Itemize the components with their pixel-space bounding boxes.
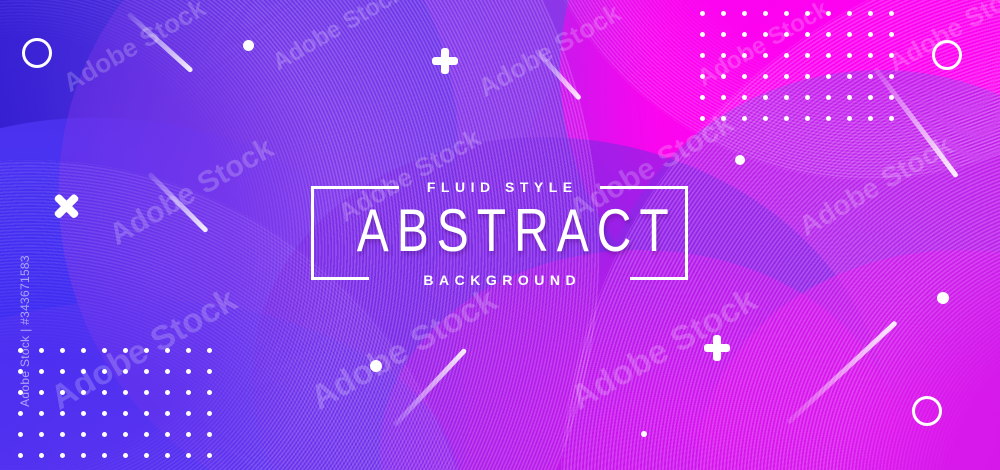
stock-watermark-tile: Adobe Stock: [693, 0, 834, 93]
stock-watermark-tile: Adobe Stock: [564, 281, 763, 419]
stock-watermark-tile: Adobe Stock: [883, 0, 1000, 79]
stock-watermark-tile: Adobe Stock: [304, 281, 503, 419]
stock-watermark-tile: Adobe Stock: [44, 281, 243, 419]
abstract-background-banner: Adobe StockAdobe StockAdobe StockAdobe S…: [0, 0, 1000, 470]
eyebrow-text: FLUID STYLE: [311, 177, 688, 197]
stock-watermark-tile: Adobe Stock: [473, 0, 626, 104]
headline-frame: FLUID STYLE ABSTRACT BACKGROUND: [311, 178, 688, 283]
frame-border-right: [685, 186, 688, 277]
subline-text: BACKGROUND: [311, 270, 688, 290]
stock-watermark-tile: Adobe Stock: [58, 0, 211, 99]
frame-border-left: [311, 186, 314, 277]
stock-watermark-tile: Adobe Stock: [104, 131, 280, 252]
headline-text: ABSTRACT: [349, 202, 651, 260]
stock-watermark-tile: Adobe Stock: [268, 0, 409, 77]
stock-watermark-tile: Adobe Stock: [793, 129, 957, 242]
